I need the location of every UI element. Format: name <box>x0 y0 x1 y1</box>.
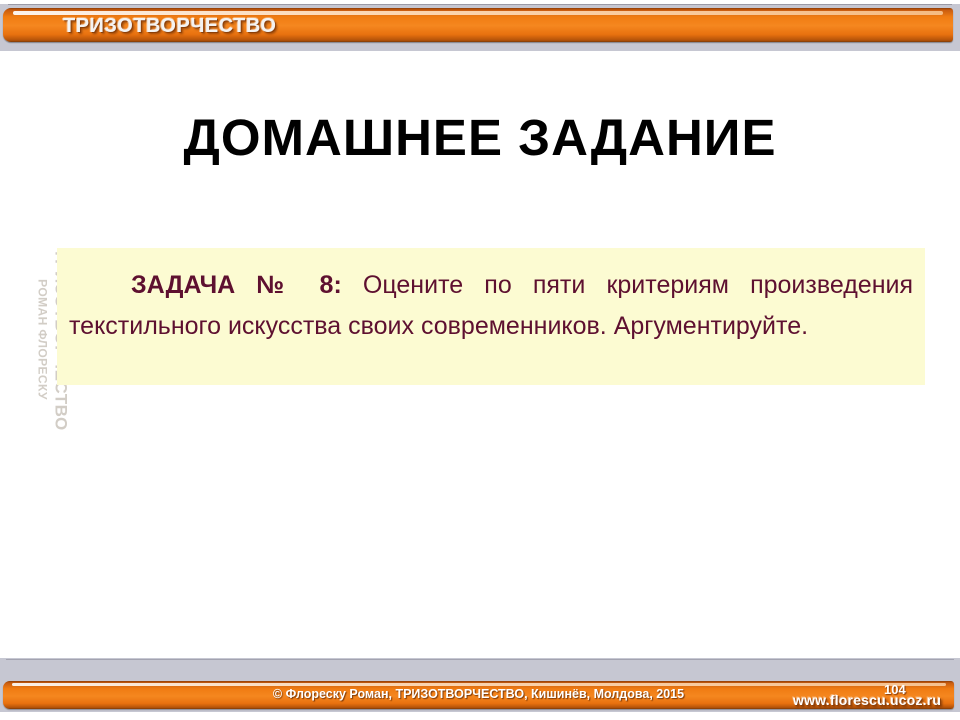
header-hairline-top <box>8 4 952 5</box>
footer-hairline-grey <box>6 659 954 660</box>
footer-bar-gloss <box>12 683 946 686</box>
task-content-box: ЗАДАЧА № 8: Оцените по пяти критериям пр… <box>57 248 925 385</box>
header-orange-bar: ТРИЗОТВОРЧЕСТВО <box>3 8 953 42</box>
slide-canvas: ТРИЗОТВОРЧЕСТВО ДОМАШНЕЕ ЗАДАНИЕ ТРИЗОТВ… <box>0 0 960 720</box>
site-url-link[interactable]: www.florescu.ucoz.ru <box>793 692 941 708</box>
footer-band: © Флореску Роман, ТРИЗОТВОРЧЕСТВО, Кишин… <box>0 655 960 720</box>
header-band: ТРИЗОТВОРЧЕСТВО <box>0 0 960 55</box>
task-paragraph: ЗАДАЧА № 8: Оцените по пяти критериям пр… <box>69 265 913 347</box>
task-label: ЗАДАЧА № 8: <box>131 271 342 299</box>
watermark-line-2: РОМАН ФЛОРЕСКУ <box>36 190 50 490</box>
footer-hairline-bottom <box>0 712 960 720</box>
footer-hairline-top <box>0 655 960 658</box>
header-brand-title: ТРИЗОТВОРЧЕСТВО <box>63 15 276 38</box>
page-title: ДОМАШНЕЕ ЗАДАНИЕ <box>0 108 960 167</box>
header-hairline-bottom <box>0 51 960 52</box>
